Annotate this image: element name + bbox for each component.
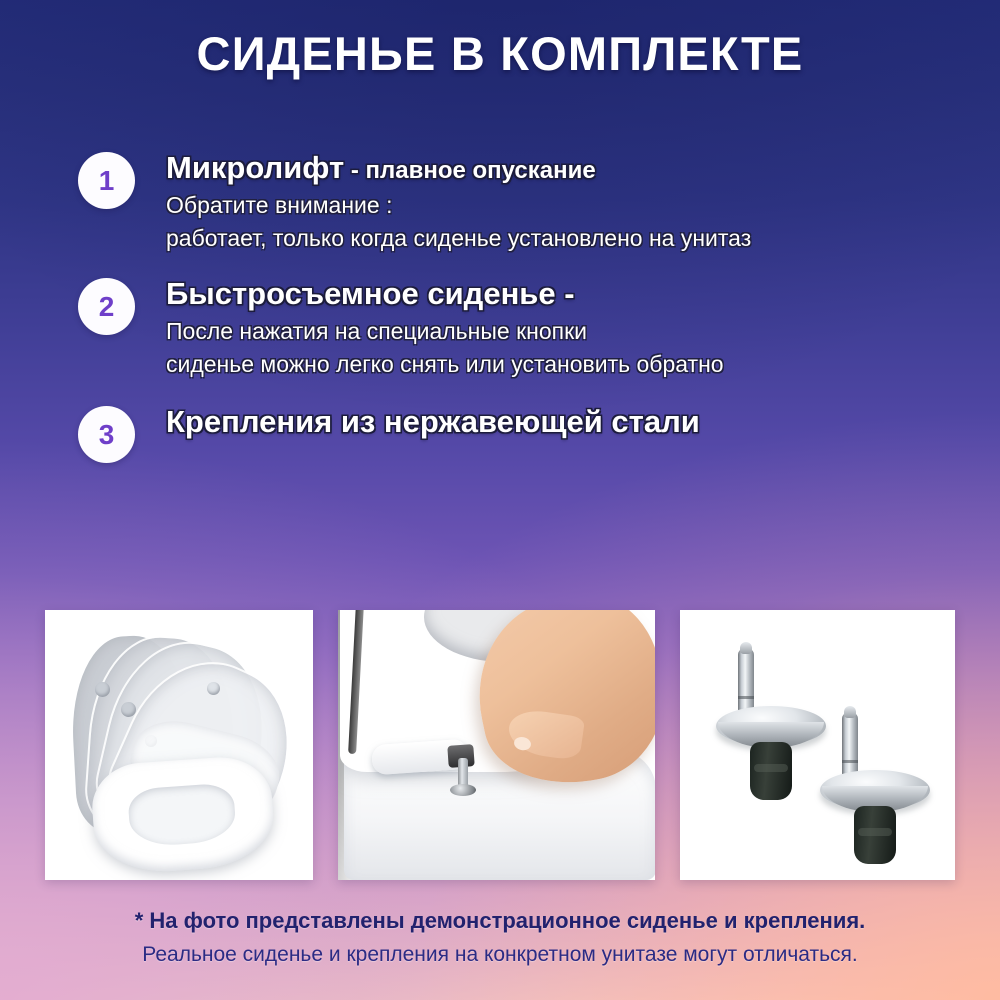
seat-bumper-1: [95, 682, 110, 697]
disclaimer-line-2: Реальное сиденье и крепления на конкретн…: [0, 943, 1000, 967]
feature-heading-strong-2: Быстросъемное сиденье -: [166, 276, 575, 311]
page-title: СИДЕНЬЕ В КОМПЛЕКТЕ: [0, 26, 1000, 81]
feature-text-3: Крепления из нержавеющей стали: [166, 402, 700, 440]
seat-bumper-3: [207, 682, 220, 695]
fixing-rubber-boot: [750, 742, 792, 800]
bolt-disc: [450, 784, 476, 796]
feature-line-2-1: После нажатия на специальные кнопки: [166, 318, 724, 345]
promo-poster: СИДЕНЬЕ В КОМПЛЕКТЕ 1 Микролифт - плавно…: [0, 0, 1000, 1000]
feature-heading-3: Крепления из нержавеющей стали: [166, 404, 700, 440]
seat-bumper-2: [121, 702, 136, 717]
photo-card-soft-close: [45, 610, 313, 880]
feature-item-2: 2 Быстросъемное сиденье - После нажатия …: [0, 274, 1000, 378]
feature-heading-strong-3: Крепления из нержавеющей стали: [166, 404, 700, 439]
index-finger: [506, 707, 585, 761]
fixing-rubber-boot: [854, 806, 896, 864]
feature-text-2: Быстросъемное сиденье - После нажатия на…: [166, 274, 724, 378]
stainless-fixings-image: [680, 610, 955, 880]
feature-badge-1: 1: [78, 152, 135, 209]
toilet-seat-soft-close-image: [45, 610, 313, 880]
feature-heading-sub-1: - плавное опускание: [344, 157, 596, 184]
feature-line-1-2: работает, только когда сиденье установле…: [166, 225, 751, 252]
photo-strip: [45, 610, 955, 880]
hand-quick-release-image: [338, 610, 655, 880]
photo-card-fixings: [680, 610, 955, 880]
feature-line-2-2: сиденье можно легко снять или установить…: [166, 351, 724, 378]
feature-item-1: 1 Микролифт - плавное опускание Обратите…: [0, 148, 1000, 252]
disclaimer: * На фото представлены демонстрационное …: [0, 908, 1000, 967]
feature-heading-2: Быстросъемное сиденье -: [166, 276, 724, 312]
seat-ring: [89, 754, 276, 876]
feature-heading-strong-1: Микролифт: [166, 150, 344, 185]
feature-list: 1 Микролифт - плавное опускание Обратите…: [0, 148, 1000, 481]
feature-badge-3: 3: [78, 406, 135, 463]
feature-badge-2: 2: [78, 278, 135, 335]
feature-text-1: Микролифт - плавное опускание Обратите в…: [166, 148, 751, 252]
disclaimer-line-1: * На фото представлены демонстрационное …: [0, 908, 1000, 934]
feature-line-1-1: Обратите внимание :: [166, 192, 751, 219]
feature-item-3: 3 Крепления из нержавеющей стали: [0, 402, 1000, 463]
photo-card-quick-release: [338, 610, 655, 880]
feature-heading-1: Микролифт - плавное опускание: [166, 150, 751, 186]
